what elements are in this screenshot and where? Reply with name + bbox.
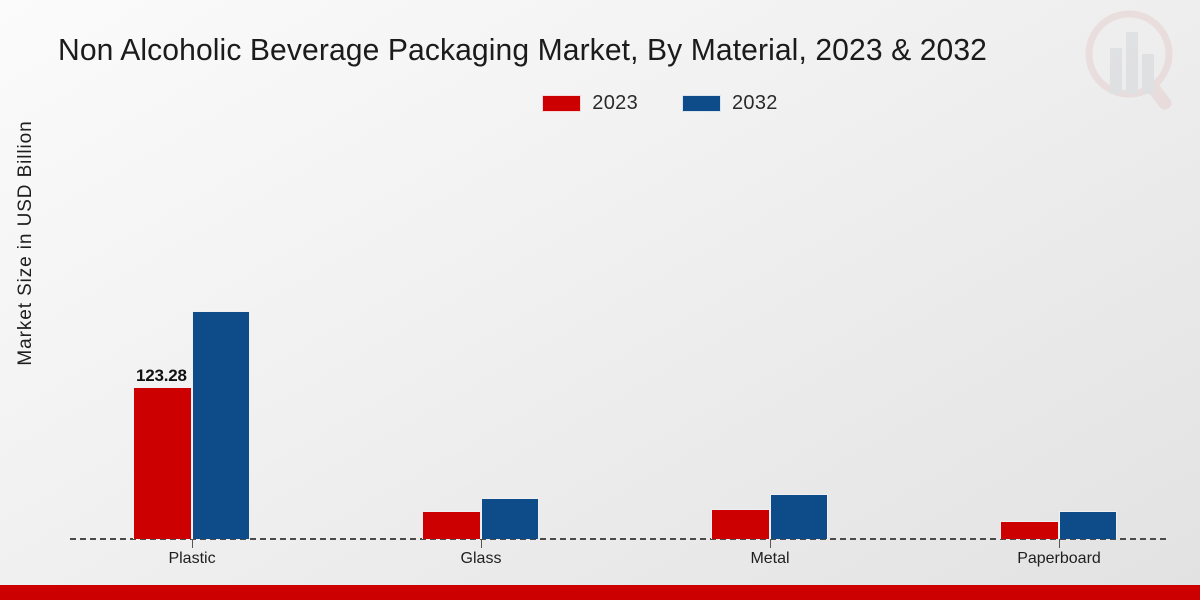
bar-paperboard-2023[interactable] bbox=[1000, 521, 1059, 539]
plot-area: 123.28 Plastic Glass Metal Paperboard bbox=[0, 0, 1200, 600]
x-axis-tick-plastic bbox=[192, 539, 193, 548]
bar-glass-2032[interactable] bbox=[481, 498, 539, 539]
bar-metal-2032[interactable] bbox=[770, 494, 828, 539]
bar-glass-2023[interactable] bbox=[422, 511, 481, 539]
x-axis-tick-paperboard bbox=[1059, 539, 1060, 548]
bar-plastic-2023[interactable] bbox=[133, 387, 192, 539]
x-axis-label-glass: Glass bbox=[461, 550, 502, 568]
bar-plastic-2032[interactable] bbox=[192, 311, 250, 539]
x-axis-tick-metal bbox=[770, 539, 771, 548]
chart-canvas: Non Alcoholic Beverage Packaging Market,… bbox=[0, 0, 1200, 600]
bar-paperboard-2032[interactable] bbox=[1059, 511, 1117, 539]
x-axis-label-plastic: Plastic bbox=[168, 550, 215, 568]
x-axis-label-metal: Metal bbox=[750, 550, 789, 568]
x-axis-label-paperboard: Paperboard bbox=[1017, 550, 1101, 568]
bar-value-plastic-2023: 123.28 bbox=[136, 366, 187, 386]
bar-metal-2023[interactable] bbox=[711, 509, 770, 539]
x-axis-tick-glass bbox=[481, 539, 482, 548]
footer-strip bbox=[0, 585, 1200, 600]
